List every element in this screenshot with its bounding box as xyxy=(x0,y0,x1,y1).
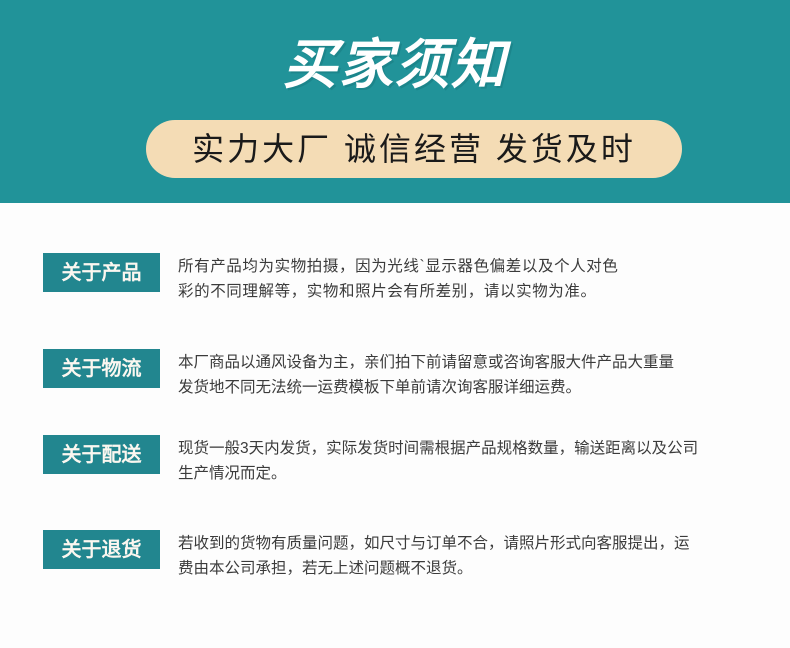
section-badge-delivery: 关于配送 xyxy=(43,435,160,474)
section-body-line: 发货地不同无法统一运费模板下单前请次询客服详细运费。 xyxy=(178,375,788,400)
header-banner: 买家须知 实力大厂 诚信经营 发货及时 xyxy=(0,0,790,203)
section-body-logistics: 本厂商品以通风设备为主，亲们拍下前请留意或咨询客服大件产品大重量 发货地不同无法… xyxy=(160,349,788,400)
notice-section-logistics: 关于物流 本厂商品以通风设备为主，亲们拍下前请留意或咨询客服大件产品大重量 发货… xyxy=(43,349,788,400)
slogan-pill: 实力大厂 诚信经营 发货及时 xyxy=(146,120,682,178)
section-body-returns: 若收到的货物有质量问题，如尺寸与订单不合，请照片形式向客服提出，运 费由本公司承… xyxy=(160,530,788,581)
section-badge-logistics: 关于物流 xyxy=(43,349,160,388)
section-body-line: 所有产品均为实物拍摄，因为光线`显示器色偏差以及个人对色 xyxy=(178,254,788,279)
section-badge-label: 关于退货 xyxy=(62,539,142,561)
section-badge-returns: 关于退货 xyxy=(43,530,160,569)
section-badge-label: 关于物流 xyxy=(62,358,142,380)
notice-section-returns: 关于退货 若收到的货物有质量问题，如尺寸与订单不合，请照片形式向客服提出，运 费… xyxy=(43,530,788,581)
notice-section-product: 关于产品 所有产品均为实物拍摄，因为光线`显示器色偏差以及个人对色 彩的不同理解… xyxy=(43,253,788,304)
section-badge-label: 关于配送 xyxy=(62,444,142,466)
notice-section-delivery: 关于配送 现货一般3天内发货，实际发货时间需根据产品规格数量，输送距离以及公司 … xyxy=(43,435,788,486)
section-body-line: 若收到的货物有质量问题，如尺寸与订单不合，请照片形式向客服提出，运 xyxy=(178,531,788,556)
section-body-line: 彩的不同理解等，实物和照片会有所差别，请以实物为准。 xyxy=(178,279,788,304)
section-body-line: 现货一般3天内发货，实际发货时间需根据产品规格数量，输送距离以及公司 xyxy=(178,436,788,461)
buyer-notice-page: 买家须知 实力大厂 诚信经营 发货及时 关于产品 所有产品均为实物拍摄，因为光线… xyxy=(0,0,790,648)
section-body-line: 费由本公司承担，若无上述问题概不退货。 xyxy=(178,556,788,581)
section-badge-product: 关于产品 xyxy=(43,253,160,292)
slogan-text: 实力大厂 诚信经营 发货及时 xyxy=(192,130,636,168)
page-title: 买家须知 xyxy=(0,32,790,98)
section-body-line: 生产情况而定。 xyxy=(178,461,788,486)
section-body-product: 所有产品均为实物拍摄，因为光线`显示器色偏差以及个人对色 彩的不同理解等，实物和… xyxy=(160,253,788,304)
section-body-line: 本厂商品以通风设备为主，亲们拍下前请留意或咨询客服大件产品大重量 xyxy=(178,350,788,375)
section-body-delivery: 现货一般3天内发货，实际发货时间需根据产品规格数量，输送距离以及公司 生产情况而… xyxy=(160,435,788,486)
section-badge-label: 关于产品 xyxy=(62,262,142,284)
